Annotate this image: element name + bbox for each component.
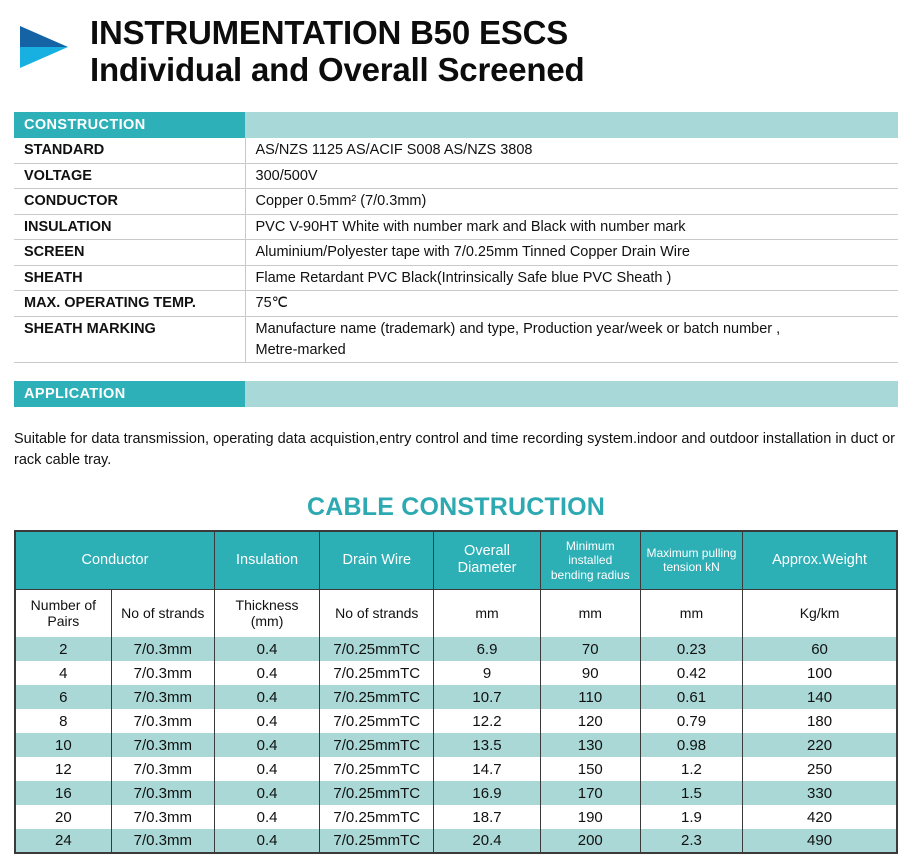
spec-row-label: INSULATION <box>14 214 245 240</box>
table-row: 247/0.3mm0.47/0.25mmTC20.42002.3490 <box>15 829 897 853</box>
table-cell: 7/0.3mm <box>111 781 214 805</box>
table-cell: 9 <box>434 661 540 685</box>
table-group-header-cell: Conductor <box>15 531 214 589</box>
table-cell: 7/0.3mm <box>111 757 214 781</box>
cable-construction-table-wrap: ConductorInsulationDrain WireOverallDiam… <box>14 530 898 854</box>
table-group-header-cell: Approx.Weight <box>743 531 897 589</box>
table-cell: 90 <box>540 661 640 685</box>
application-banner-label: APPLICATION <box>14 381 245 407</box>
table-cell: 4 <box>15 661 111 685</box>
table-cell: 190 <box>540 805 640 829</box>
table-cell: 7/0.25mmTC <box>320 637 434 661</box>
spec-row-label: SHEATH <box>14 265 245 291</box>
table-cell: 0.4 <box>214 781 319 805</box>
table-cell: 16 <box>15 781 111 805</box>
table-cell: 24 <box>15 829 111 853</box>
application-banner: APPLICATION <box>14 381 898 407</box>
table-cell: 100 <box>743 661 897 685</box>
table-row: 27/0.3mm0.47/0.25mmTC6.9700.2360 <box>15 637 897 661</box>
table-cell: 7/0.3mm <box>111 637 214 661</box>
table-cell: 20.4 <box>434 829 540 853</box>
page-header: INSTRUMENTATION B50 ESCS Individual and … <box>0 0 912 112</box>
logo-upper-triangle <box>20 26 68 47</box>
table-cell: 12 <box>15 757 111 781</box>
construction-banner-label: CONSTRUCTION <box>14 112 245 138</box>
table-group-header-cell: Minimuminstalledbending radius <box>540 531 640 589</box>
table-group-header-row: ConductorInsulationDrain WireOverallDiam… <box>15 531 897 589</box>
table-row: 107/0.3mm0.47/0.25mmTC13.51300.98220 <box>15 733 897 757</box>
table-cell: 7/0.25mmTC <box>320 709 434 733</box>
spec-row: VOLTAGE300/500V <box>14 163 898 189</box>
table-cell: 8 <box>15 709 111 733</box>
spec-row-value: PVC V-90HT White with number mark and Bl… <box>245 214 898 240</box>
table-cell: 7/0.3mm <box>111 709 214 733</box>
spec-row-value: Manufacture name (trademark) and type, P… <box>245 317 898 363</box>
logo-lower-triangle <box>20 47 68 68</box>
spec-row-label: SHEATH MARKING <box>14 317 245 363</box>
spec-row-value: 300/500V <box>245 163 898 189</box>
table-cell: 1.2 <box>640 757 742 781</box>
table-row: 207/0.3mm0.47/0.25mmTC18.71901.9420 <box>15 805 897 829</box>
table-group-header-cell: Drain Wire <box>320 531 434 589</box>
table-group-header-cell: Insulation <box>214 531 319 589</box>
table-row: 47/0.3mm0.47/0.25mmTC9900.42100 <box>15 661 897 685</box>
spec-row-label: VOLTAGE <box>14 163 245 189</box>
table-cell: 200 <box>540 829 640 853</box>
table-cell: 7/0.25mmTC <box>320 829 434 853</box>
table-cell: 150 <box>540 757 640 781</box>
table-cell: 7/0.25mmTC <box>320 685 434 709</box>
table-sub-header-cell: Number ofPairs <box>15 589 111 637</box>
table-cell: 1.5 <box>640 781 742 805</box>
table-sub-header-cell: mm <box>540 589 640 637</box>
table-sub-header-cell: No of strands <box>111 589 214 637</box>
table-cell: 10.7 <box>434 685 540 709</box>
cable-construction-table: ConductorInsulationDrain WireOverallDiam… <box>14 530 898 854</box>
play-triangle-logo-icon <box>14 18 72 76</box>
table-cell: 0.4 <box>214 637 319 661</box>
table-cell: 180 <box>743 709 897 733</box>
table-cell: 16.9 <box>434 781 540 805</box>
spec-row-label: MAX. OPERATING TEMP. <box>14 291 245 317</box>
table-cell: 7/0.3mm <box>111 829 214 853</box>
spacer <box>0 363 912 381</box>
table-cell: 10 <box>15 733 111 757</box>
table-cell: 0.4 <box>214 829 319 853</box>
table-cell: 20 <box>15 805 111 829</box>
spec-row: STANDARDAS/NZS 1125 AS/ACIF S008 AS/NZS … <box>14 138 898 163</box>
table-cell: 0.4 <box>214 685 319 709</box>
table-cell: 6.9 <box>434 637 540 661</box>
table-cell: 0.4 <box>214 733 319 757</box>
spec-row: SHEATHFlame Retardant PVC Black(Intrinsi… <box>14 265 898 291</box>
construction-spec-table: STANDARDAS/NZS 1125 AS/ACIF S008 AS/NZS … <box>14 138 898 363</box>
table-sub-header-row: Number ofPairsNo of strandsThickness(mm)… <box>15 589 897 637</box>
application-banner-fill <box>245 381 898 407</box>
table-cell: 0.4 <box>214 709 319 733</box>
table-cell: 490 <box>743 829 897 853</box>
spec-row-value: AS/NZS 1125 AS/ACIF S008 AS/NZS 3808 <box>245 138 898 163</box>
table-cell: 1.9 <box>640 805 742 829</box>
table-cell: 13.5 <box>434 733 540 757</box>
title-line-1: INSTRUMENTATION B50 ESCS <box>90 14 584 51</box>
table-cell: 70 <box>540 637 640 661</box>
table-cell: 120 <box>540 709 640 733</box>
page-title: INSTRUMENTATION B50 ESCS Individual and … <box>90 14 584 89</box>
spec-row: CONDUCTORCopper 0.5mm² (7/0.3mm) <box>14 189 898 215</box>
table-sub-header-cell: mm <box>434 589 540 637</box>
application-text: Suitable for data transmission, operatin… <box>14 429 898 471</box>
title-line-2: Individual and Overall Screened <box>90 51 584 88</box>
spec-row-value: 75℃ <box>245 291 898 317</box>
table-cell: 18.7 <box>434 805 540 829</box>
table-group-header-cell: Maximum pullingtension kN <box>640 531 742 589</box>
spec-row: MAX. OPERATING TEMP.75℃ <box>14 291 898 317</box>
table-group-header-cell: OverallDiameter <box>434 531 540 589</box>
table-row: 67/0.3mm0.47/0.25mmTC10.71100.61140 <box>15 685 897 709</box>
table-cell: 7/0.3mm <box>111 661 214 685</box>
table-cell: 0.4 <box>214 805 319 829</box>
table-cell: 0.42 <box>640 661 742 685</box>
table-cell: 0.79 <box>640 709 742 733</box>
table-sub-header-cell: No of strands <box>320 589 434 637</box>
table-cell: 0.4 <box>214 661 319 685</box>
table-cell: 6 <box>15 685 111 709</box>
table-cell: 7/0.25mmTC <box>320 805 434 829</box>
table-cell: 14.7 <box>434 757 540 781</box>
spec-row: SCREENAluminium/Polyester tape with 7/0.… <box>14 240 898 266</box>
spec-row-value: Flame Retardant PVC Black(Intrinsically … <box>245 265 898 291</box>
table-cell: 7/0.3mm <box>111 805 214 829</box>
table-cell: 130 <box>540 733 640 757</box>
table-cell: 0.23 <box>640 637 742 661</box>
table-cell: 7/0.25mmTC <box>320 757 434 781</box>
construction-banner-fill <box>245 112 898 138</box>
table-sub-header-cell: Kg/km <box>743 589 897 637</box>
table-cell: 0.4 <box>214 757 319 781</box>
table-row: 127/0.3mm0.47/0.25mmTC14.71501.2250 <box>15 757 897 781</box>
table-cell: 0.98 <box>640 733 742 757</box>
spec-row-label: SCREEN <box>14 240 245 266</box>
table-row: 87/0.3mm0.47/0.25mmTC12.21200.79180 <box>15 709 897 733</box>
table-cell: 420 <box>743 805 897 829</box>
spec-row-value: Copper 0.5mm² (7/0.3mm) <box>245 189 898 215</box>
table-cell: 2 <box>15 637 111 661</box>
table-cell: 330 <box>743 781 897 805</box>
table-cell: 140 <box>743 685 897 709</box>
table-cell: 7/0.3mm <box>111 685 214 709</box>
table-cell: 250 <box>743 757 897 781</box>
table-cell: 7/0.25mmTC <box>320 661 434 685</box>
table-cell: 110 <box>540 685 640 709</box>
table-sub-header-cell: Thickness(mm) <box>214 589 319 637</box>
table-row: 167/0.3mm0.47/0.25mmTC16.91701.5330 <box>15 781 897 805</box>
spec-row: SHEATH MARKINGManufacture name (trademar… <box>14 317 898 363</box>
spec-row-value: Aluminium/Polyester tape with 7/0.25mm T… <box>245 240 898 266</box>
table-cell: 7/0.25mmTC <box>320 733 434 757</box>
table-cell: 7/0.3mm <box>111 733 214 757</box>
spec-row-label: STANDARD <box>14 138 245 163</box>
construction-banner: CONSTRUCTION <box>14 112 898 138</box>
table-cell: 7/0.25mmTC <box>320 781 434 805</box>
table-cell: 2.3 <box>640 829 742 853</box>
table-sub-header-cell: mm <box>640 589 742 637</box>
table-cell: 12.2 <box>434 709 540 733</box>
cable-construction-title: CABLE CONSTRUCTION <box>0 493 912 522</box>
table-cell: 220 <box>743 733 897 757</box>
table-cell: 60 <box>743 637 897 661</box>
table-cell: 170 <box>540 781 640 805</box>
spec-row-label: CONDUCTOR <box>14 189 245 215</box>
table-cell: 0.61 <box>640 685 742 709</box>
spec-row: INSULATIONPVC V-90HT White with number m… <box>14 214 898 240</box>
